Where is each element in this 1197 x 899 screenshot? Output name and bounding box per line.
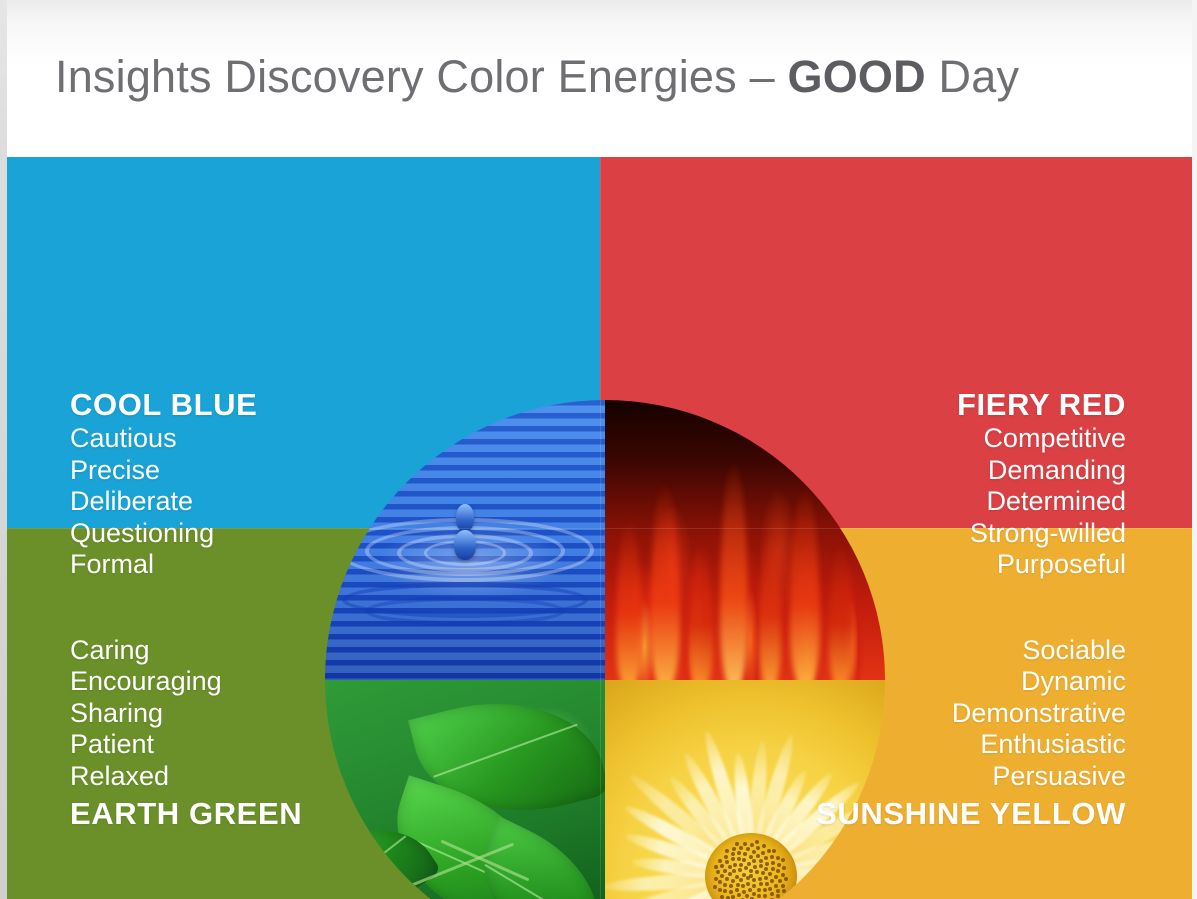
fiery-red-trait-list: CompetitiveDemandingDeterminedStrong-wil… [957, 423, 1126, 581]
sunflower-seed [772, 849, 776, 853]
sunflower-seed [725, 849, 729, 853]
sunflower-seed [782, 889, 786, 893]
sunflower-seed [746, 876, 750, 880]
cool-blue-title: COOL BLUE [70, 387, 257, 423]
sunflower-seed [723, 869, 727, 873]
trait-item: Dynamic [816, 666, 1126, 698]
sunflower-seed [752, 892, 756, 896]
sunflower-seed [781, 873, 785, 877]
sunflower-seed [744, 866, 748, 870]
sunflower-seed [716, 870, 720, 874]
fiery-red-text-block: FIERY RED CompetitiveDemandingDetermined… [957, 387, 1126, 581]
sunflower-seed [739, 878, 743, 882]
sunflower-seed [729, 890, 733, 894]
sunflower-seed [776, 889, 780, 893]
sunflower-seed [738, 868, 742, 872]
page-title: Insights Discovery Color Energies – GOOD… [55, 46, 1019, 108]
trait-item: Competitive [957, 423, 1126, 455]
trait-item: Demonstrative [816, 698, 1126, 730]
trait-item: Strong-willed [957, 518, 1126, 550]
trait-item: Purposeful [957, 549, 1126, 581]
sunflower-seed [774, 884, 778, 888]
sunflower-seed [739, 863, 743, 867]
sunflower-seed [778, 879, 782, 883]
sunshine-yellow-text-block: SociableDynamicDemonstrativeEnthusiastic… [816, 635, 1126, 833]
sunflower-seed [718, 859, 722, 863]
sunflower-seed [752, 850, 756, 854]
trait-item: Questioning [70, 518, 257, 550]
sunflower-seed [781, 884, 785, 888]
sunflower-seed [757, 888, 761, 892]
sunflower-seed [731, 857, 735, 861]
sunflower-seed [758, 877, 762, 881]
sunflower-seed [742, 890, 746, 894]
sunflower-seed [784, 877, 788, 881]
sunflower-seed [725, 860, 729, 864]
sunflower-seed [728, 872, 732, 876]
sunflower-seed [774, 875, 778, 879]
slide-right-edge [1192, 0, 1197, 899]
sunflower-seed [770, 879, 774, 883]
sunflower-seed [732, 869, 736, 873]
sunflower-seed [743, 842, 747, 846]
sunshine-yellow-title: SUNSHINE YELLOW [816, 796, 1126, 832]
sunflower-seed [756, 846, 760, 850]
sunflower-seed [747, 862, 751, 866]
sunflower-seed [735, 842, 739, 846]
sunflower-seed [728, 865, 732, 869]
sunflower-seed [733, 863, 737, 867]
sunflower-seed [764, 856, 768, 860]
sunflower-seed [725, 877, 729, 881]
trait-item: Precise [70, 455, 257, 487]
sunflower-seed [748, 888, 752, 892]
sunflower-seed [723, 889, 727, 893]
color-energy-grid: COOL BLUE CautiousPreciseDeliberateQuest… [7, 157, 1192, 899]
sunflower-seed [741, 884, 745, 888]
sunflower-seed [759, 864, 763, 868]
sunflower-seed [767, 849, 771, 853]
trait-item: Cautious [70, 423, 257, 455]
wheel-segment-leaves [325, 680, 605, 899]
sunflower-seed [764, 867, 768, 871]
trait-item: Encouraging [70, 666, 302, 698]
trait-item: Caring [70, 635, 302, 667]
sunflower-seed [743, 852, 747, 856]
sunflower-seed [729, 884, 733, 888]
sunflower-seed [739, 846, 743, 850]
sunflower-seed [770, 892, 774, 896]
trait-item: Patient [70, 729, 302, 761]
sunflower-seed [757, 894, 761, 898]
sunflower-seed [720, 874, 724, 878]
sunflower-seed [776, 894, 780, 898]
sunflower-seed [762, 844, 766, 848]
sunflower-seed [714, 865, 718, 869]
earth-green-trait-list: CaringEncouragingSharingPatientRelaxed [70, 635, 302, 793]
slide-header: Insights Discovery Color Energies – GOOD… [0, 0, 1197, 157]
page-title-lead: Insights Discovery Color Energies [55, 51, 750, 102]
cool-blue-trait-list: CautiousPreciseDeliberateQuestioningForm… [70, 423, 257, 581]
page-title-dash: – [750, 51, 788, 102]
sunflower-seed [777, 863, 781, 867]
sunflower-seed [750, 843, 754, 847]
sunflower-seed [736, 883, 740, 887]
slide-left-edge [0, 0, 7, 899]
earth-green-title: EARTH GREEN [70, 796, 302, 832]
sunflower-seed [763, 888, 767, 892]
insights-color-wheel [325, 400, 885, 899]
sunflower-seed [781, 858, 785, 862]
sunflower-seed [720, 895, 724, 899]
sunshine-yellow-trait-list: SociableDynamicDemonstrativeEnthusiastic… [816, 635, 1126, 793]
trait-item: Sharing [70, 698, 302, 730]
trait-item: Persuasive [816, 761, 1126, 793]
sunflower-seed [755, 840, 759, 844]
sunflower-seed [756, 854, 760, 858]
sunflower-seed [755, 870, 759, 874]
trait-item: Determined [957, 486, 1126, 518]
sunflower-seed [771, 861, 775, 865]
sunflower-seed [724, 855, 728, 859]
sunflower-seed [726, 896, 730, 899]
sunflower-seed [763, 894, 767, 898]
sunflower-seed [713, 885, 717, 889]
earth-green-text-block: CaringEncouragingSharingPatientRelaxed E… [70, 635, 302, 833]
trait-item: Formal [70, 549, 257, 581]
sunflower-seed [776, 869, 780, 873]
sunflower-seed [761, 871, 765, 875]
sunflower-seed [735, 888, 739, 892]
sunflower-seed [731, 852, 735, 856]
sunflower-seed [749, 869, 753, 873]
sunflower-seed [731, 879, 735, 883]
page-title-tail: Day [926, 51, 1019, 102]
wheel-segment-water-droplet [325, 400, 605, 680]
sunflower-seed [718, 880, 722, 884]
sunflower-seed [765, 882, 769, 886]
trait-item: Enthusiastic [816, 729, 1126, 761]
sunflower-seed [768, 887, 772, 891]
sunflower-seed [718, 888, 722, 892]
sunflower-seed [732, 847, 736, 851]
sunflower-seed [761, 851, 765, 855]
sunflower-seed [742, 858, 746, 862]
trait-item: Sociable [816, 635, 1126, 667]
trait-item: Relaxed [70, 761, 302, 793]
sunflower-seed [752, 878, 756, 882]
sunflower-seed [759, 859, 763, 863]
sunflower-seed [737, 857, 741, 861]
sunflower-seed [782, 866, 786, 870]
sunflower-seed [749, 855, 753, 859]
sunflower-seed [752, 859, 756, 863]
sunflower-seed [737, 893, 741, 897]
trait-item: Deliberate [70, 486, 257, 518]
sunflower-seed [765, 862, 769, 866]
page-title-emphasis: GOOD [788, 51, 926, 102]
sunflower-seed [768, 872, 772, 876]
sunflower-seed [776, 856, 780, 860]
sunflower-seed [746, 847, 750, 851]
sunflower-seed [742, 873, 746, 877]
sunflower-seed [737, 851, 741, 855]
slide-canvas: Insights Discovery Color Energies – GOOD… [0, 0, 1197, 899]
sunflower-seed [771, 867, 775, 871]
sunflower-seed [746, 882, 750, 886]
cool-blue-text-block: COOL BLUE CautiousPreciseDeliberateQuest… [70, 387, 257, 581]
sunflower-seed [714, 877, 718, 881]
sunflower-seed [752, 884, 756, 888]
sunflower-seed [723, 883, 727, 887]
sunflower-seed [731, 895, 735, 899]
sunflower-seed [770, 855, 774, 859]
sunflower-seed [759, 882, 763, 886]
fiery-red-title: FIERY RED [957, 387, 1126, 423]
sunflower-seed [753, 865, 757, 869]
sunflower-seed [735, 875, 739, 879]
sunflower-seed [720, 864, 724, 868]
sunflower-seed [745, 894, 749, 898]
trait-item: Demanding [957, 455, 1126, 487]
sunflower-seed [764, 876, 768, 880]
